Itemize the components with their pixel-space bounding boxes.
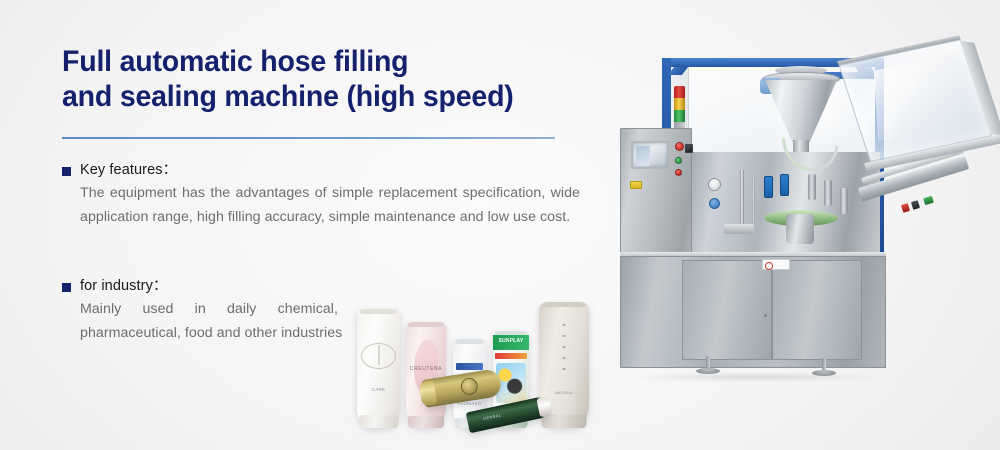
tube-holder-plate [724,224,754,234]
pressure-gauge [708,178,721,191]
conveyor-red-button[interactable] [901,203,910,213]
warning-label-icon [630,181,642,189]
square-bullet-icon [62,167,71,176]
base-cabinet-door-right[interactable] [772,260,862,360]
title-divider [62,137,555,139]
list-item: CREUTENA [406,322,446,427]
hmi-touchscreen[interactable] [631,141,669,169]
machine-image [612,28,992,398]
copy-block: Full automatic hose filling and sealing … [62,44,582,114]
stack-light-tower-icon [674,86,685,132]
conveyor-selector-switch[interactable] [911,200,920,210]
page-title: Full automatic hose filling and sealing … [62,44,556,114]
key-features-heading: Key features： [80,162,177,179]
blue-sensor-block [780,174,789,196]
turntable-hub [786,214,814,244]
for-industry-heading: for industry： [80,278,168,295]
key-features-body: The equipment has the advantages of simp… [80,181,580,229]
base-cabinet-door-left[interactable] [682,260,772,360]
for-industry-line-3: industries [281,325,342,341]
piston-rod [740,170,744,226]
door-lock-icon[interactable] [764,314,767,317]
safety-warning-label [762,259,790,270]
pneumatic-cylinder [840,188,848,214]
product-tubes-group: CARE CREUTENA PAUMAXO SUNPLAY [345,252,610,427]
selector-switch[interactable] [685,144,693,153]
list-item: CARE [357,309,400,427]
stop-button[interactable] [675,169,682,176]
blue-regulator-knob [709,198,720,209]
product-banner: Full automatic hose filling and sealing … [0,0,1000,450]
tube-brand-label: SUNPLAY [493,338,529,344]
emergency-stop-button[interactable] [675,142,684,151]
section-heading-row: Key features： [62,162,582,179]
section-key-features: Key features： The equipment has the adva… [62,162,582,229]
pneumatic-cylinder [808,174,816,200]
piston-rod [752,178,755,222]
machine-shadow [632,372,882,382]
square-bullet-icon [62,283,71,292]
start-button[interactable] [675,157,682,164]
conveyor-green-button[interactable] [923,196,934,205]
pneumatic-cylinder [824,180,832,206]
blue-sensor-block [764,176,773,198]
for-industry-body: Mainly used in daily chemical, pharmaceu… [80,297,355,345]
for-industry-line-1: Mainly used in daily chemical, [80,297,338,321]
for-industry-line-2: pharmaceutical, food and other [80,325,277,341]
